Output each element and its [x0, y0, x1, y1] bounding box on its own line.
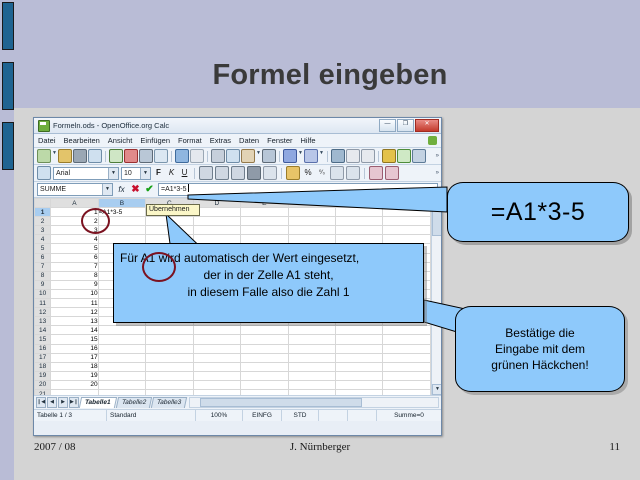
window-controls: — ❐ ✕	[379, 119, 439, 132]
previous-sheet-button[interactable]: ◀	[47, 397, 57, 408]
cell-h21[interactable]	[383, 389, 431, 395]
formula-bar: SUMME ▼ fx ✖ ✔ =A1*3-5	[34, 182, 441, 198]
cell-a19[interactable]: 19	[51, 371, 98, 380]
function-wizard-icon[interactable]: fx	[116, 185, 127, 194]
cell-c17[interactable]	[146, 353, 193, 362]
cell-e1[interactable]	[241, 208, 288, 217]
callout-formula-text: =A1*3-5	[491, 198, 586, 227]
cell-f2[interactable]	[288, 217, 335, 226]
column-header-a[interactable]: A	[51, 199, 98, 208]
status-bar: Tabelle 1 / 3 Standard 100% EINFG STD Su…	[34, 409, 441, 421]
cell-c18[interactable]	[146, 362, 193, 371]
row-header-19[interactable]: 19	[35, 371, 51, 380]
table-row: 1616	[35, 344, 431, 353]
menu-item-format[interactable]: Format	[178, 136, 202, 145]
footer-center: J. Nürnberger	[0, 438, 640, 456]
table-row: 1717	[35, 353, 431, 362]
accept-tooltip-label: Übernehmen	[149, 206, 189, 213]
row-header-12[interactable]: 12	[35, 308, 51, 317]
cell-b21[interactable]	[98, 389, 145, 395]
paste-icon[interactable]	[241, 149, 255, 163]
row-header-1[interactable]: 1	[35, 208, 51, 217]
cell-d14[interactable]	[193, 326, 240, 335]
cell-h15[interactable]	[383, 335, 431, 344]
toolbar-separator-3	[207, 151, 208, 162]
cell-g14[interactable]	[335, 326, 382, 335]
undo-dropdown-icon[interactable]: ▼	[298, 150, 303, 162]
vertical-scroll-thumb[interactable]	[432, 208, 441, 236]
cell-h16[interactable]	[383, 344, 431, 353]
cell-a15[interactable]: 15	[51, 335, 98, 344]
text-caret	[188, 184, 189, 192]
cell-h3[interactable]	[383, 226, 431, 235]
status-modified	[319, 410, 348, 421]
spellcheck-icon[interactable]	[175, 149, 189, 163]
italic-button[interactable]: K	[166, 167, 177, 179]
cell-f3[interactable]	[288, 226, 335, 235]
cell-b19[interactable]	[98, 371, 145, 380]
cell-a17[interactable]: 17	[51, 353, 98, 362]
font-name-value: Arial	[56, 170, 70, 177]
row-header-20[interactable]: 20	[35, 380, 51, 389]
cell-b17[interactable]	[98, 353, 145, 362]
clone-formatting-icon[interactable]	[262, 149, 276, 163]
formatting-toolbar: Arial ▼ 10 ▼ F K U % ⁰⁄₀ »	[34, 165, 441, 182]
spelling-check-icon[interactable]	[397, 149, 411, 163]
cell-b14[interactable]	[98, 326, 145, 335]
cell-c14[interactable]	[146, 326, 193, 335]
cut-icon[interactable]	[211, 149, 225, 163]
cell-h18[interactable]	[383, 362, 431, 371]
percent-format-icon[interactable]: %	[302, 167, 314, 179]
copy-icon[interactable]	[226, 149, 240, 163]
row-header-10[interactable]: 10	[35, 289, 51, 298]
row-header-16[interactable]: 16	[35, 344, 51, 353]
column-header-b[interactable]: B	[98, 199, 145, 208]
table-row: 2020	[35, 380, 431, 389]
bold-button[interactable]: F	[153, 167, 164, 179]
table-row: 1919	[35, 371, 431, 380]
cell-e14[interactable]	[241, 326, 288, 335]
cell-f21[interactable]	[288, 389, 335, 395]
callout-formula: =A1*3-5	[447, 182, 629, 242]
cell-d16[interactable]	[193, 344, 240, 353]
align-justified-icon[interactable]	[247, 166, 261, 180]
next-sheet-button[interactable]: ▶	[58, 397, 68, 408]
page-title: Formel eingeben	[60, 54, 600, 96]
cell-g18[interactable]	[335, 362, 382, 371]
cell-e3[interactable]	[241, 226, 288, 235]
cell-d15[interactable]	[193, 335, 240, 344]
row-header-9[interactable]: 9	[35, 280, 51, 289]
menu-item-bearbeiten[interactable]: Bearbeiten	[64, 136, 100, 145]
formula-input-value: =A1*3-5	[161, 186, 187, 193]
cell-c3[interactable]	[146, 226, 193, 235]
cell-a14[interactable]: 14	[51, 326, 98, 335]
menu-item-einfuegen[interactable]: Einfügen	[140, 136, 170, 145]
status-sheet: Tabelle 1 / 3	[34, 410, 107, 421]
menu-item-extras[interactable]: Extras	[210, 136, 231, 145]
cell-b16[interactable]	[98, 344, 145, 353]
cell-a16[interactable]: 16	[51, 344, 98, 353]
menu-item-daten[interactable]: Daten	[239, 136, 259, 145]
cell-h20[interactable]	[383, 380, 431, 389]
font-name-dropdown-icon[interactable]: ▼	[108, 168, 118, 179]
last-sheet-button[interactable]: ▶❙	[69, 397, 79, 408]
cell-e18[interactable]	[241, 362, 288, 371]
row-header-7[interactable]: 7	[35, 262, 51, 271]
cell-a11[interactable]: 11	[51, 299, 98, 308]
callout-explanation-line3: in diesem Falle also die Zahl 1	[114, 284, 423, 301]
cell-c16[interactable]	[146, 344, 193, 353]
email-icon[interactable]	[88, 149, 102, 163]
minimize-button[interactable]: —	[379, 119, 396, 132]
menu-item-hilfe[interactable]: Hilfe	[301, 136, 316, 145]
cell-d1[interactable]	[193, 208, 240, 217]
cell-d3[interactable]	[193, 226, 240, 235]
cell-d19[interactable]	[193, 371, 240, 380]
cell-a4[interactable]: 4	[51, 235, 98, 244]
cell-a21[interactable]	[51, 389, 98, 395]
decrease-indent-icon[interactable]	[369, 166, 383, 180]
cell-a18[interactable]: 18	[51, 362, 98, 371]
calc-app-icon	[38, 120, 50, 132]
footer-right: 11	[560, 438, 620, 456]
cell-d20[interactable]	[193, 380, 240, 389]
cell-e21[interactable]	[241, 389, 288, 395]
decor-bar-2	[2, 62, 14, 110]
cell-f19[interactable]	[288, 371, 335, 380]
cell-g20[interactable]	[335, 380, 382, 389]
window-title: Formeln.ods - OpenOffice.org Calc	[53, 121, 379, 130]
add-decimal-icon[interactable]	[330, 166, 344, 180]
cell-f16[interactable]	[288, 344, 335, 353]
row-header-21[interactable]: 21	[35, 389, 51, 395]
cell-e17[interactable]	[241, 353, 288, 362]
cell-d2[interactable]	[193, 217, 240, 226]
align-right-icon[interactable]	[231, 166, 245, 180]
name-box[interactable]: SUMME ▼	[37, 183, 113, 196]
status-signature	[348, 410, 377, 421]
save-icon[interactable]	[73, 149, 87, 163]
cell-g21[interactable]	[335, 389, 382, 395]
cell-g3[interactable]	[335, 226, 382, 235]
callout-confirm-line1: Bestätige die	[491, 325, 588, 341]
format-separator-1	[194, 168, 195, 179]
cell-e15[interactable]	[241, 335, 288, 344]
cell-c19[interactable]	[146, 371, 193, 380]
cell-g16[interactable]	[335, 344, 382, 353]
font-name-input[interactable]: Arial ▼	[53, 167, 119, 180]
print-icon[interactable]	[139, 149, 153, 163]
column-header-row: A B C D E F G H	[35, 199, 431, 208]
cell-a5[interactable]: 5	[51, 244, 98, 253]
cell-f17[interactable]	[288, 353, 335, 362]
align-center-icon[interactable]	[215, 166, 229, 180]
menu-item-ansicht[interactable]: Ansicht	[108, 136, 133, 145]
cell-c20[interactable]	[146, 380, 193, 389]
sheet-tab-tabelle1[interactable]: Tabelle1	[79, 397, 117, 408]
sort-ascending-icon[interactable]	[346, 149, 360, 163]
cell-g19[interactable]	[335, 371, 382, 380]
cell-d21[interactable]	[193, 389, 240, 395]
open-icon[interactable]	[58, 149, 72, 163]
cell-h17[interactable]	[383, 353, 431, 362]
autospellcheck-icon[interactable]	[190, 149, 204, 163]
standard-toolbar: ▼ ▼ ▼ ▼	[34, 148, 441, 165]
row-header-13[interactable]: 13	[35, 317, 51, 326]
row-header-17[interactable]: 17	[35, 353, 51, 362]
window-titlebar[interactable]: Formeln.ods - OpenOffice.org Calc — ❐ ✕	[34, 118, 441, 134]
status-insert-mode[interactable]: EINFG	[243, 410, 282, 421]
horizontal-scroll-thumb[interactable]	[200, 398, 362, 407]
decor-bar-3	[2, 122, 14, 170]
accept-icon[interactable]: ✔	[144, 184, 155, 195]
menu-bar: Datei Bearbeiten Ansicht Einfügen Format…	[34, 134, 441, 148]
callout-confirm-line2: Eingabe mit dem	[491, 341, 588, 357]
toolbar-separator-5	[327, 151, 328, 162]
document-modified-icon	[428, 136, 437, 145]
cell-f18[interactable]	[288, 362, 335, 371]
row-header-5[interactable]: 5	[35, 244, 51, 253]
sort-descending-icon[interactable]	[361, 149, 375, 163]
column-header-g[interactable]: G	[335, 199, 382, 208]
annotation-circle-a1-text	[142, 252, 176, 282]
slide: Formel eingeben Formeln.ods - OpenOffice…	[0, 0, 640, 480]
cell-c2[interactable]	[146, 217, 193, 226]
cancel-icon[interactable]: ✖	[130, 184, 141, 195]
column-header-d[interactable]: D	[193, 199, 240, 208]
format-separator-2	[281, 168, 282, 179]
cell-h1[interactable]	[383, 208, 431, 217]
first-sheet-button[interactable]: ❙◀	[36, 397, 46, 408]
new-dropdown-icon[interactable]: ▼	[52, 150, 57, 162]
font-size-input[interactable]: 10 ▼	[121, 167, 151, 180]
cell-c15[interactable]	[146, 335, 193, 344]
export-pdf-icon[interactable]	[124, 149, 138, 163]
close-button[interactable]: ✕	[415, 119, 439, 132]
callout-confirm-line3: grünen Häckchen!	[491, 357, 588, 373]
row-header-3[interactable]: 3	[35, 226, 51, 235]
cell-h2[interactable]	[383, 217, 431, 226]
column-header-f[interactable]: F	[288, 199, 335, 208]
paste-dropdown-icon[interactable]: ▼	[256, 150, 261, 162]
sheet-tab-bar: ❙◀ ◀ ▶ ▶❙ Tabelle1 Tabelle2 Tabelle3	[34, 395, 441, 409]
cell-g15[interactable]	[335, 335, 382, 344]
redo-dropdown-icon[interactable]: ▼	[319, 150, 324, 162]
toolbar-separator-4	[279, 151, 280, 162]
cell-e19[interactable]	[241, 371, 288, 380]
cell-b15[interactable]	[98, 335, 145, 344]
increase-indent-icon[interactable]	[385, 166, 399, 180]
cell-d17[interactable]	[193, 353, 240, 362]
toolbar-separator-6	[378, 151, 379, 162]
row-header-14[interactable]: 14	[35, 326, 51, 335]
toolbar-separator-2	[171, 151, 172, 162]
cell-c21[interactable]	[146, 389, 193, 395]
scroll-down-button[interactable]: ▼	[432, 384, 441, 395]
row-header-11[interactable]: 11	[35, 299, 51, 308]
select-all-corner[interactable]	[35, 199, 51, 208]
cell-b20[interactable]	[98, 380, 145, 389]
row-header-2[interactable]: 2	[35, 217, 51, 226]
styles-icon[interactable]	[37, 166, 51, 180]
name-box-value: SUMME	[40, 186, 66, 193]
hyperlink-icon[interactable]	[331, 149, 345, 163]
row-header-15[interactable]: 15	[35, 335, 51, 344]
find-replace-icon[interactable]	[412, 149, 426, 163]
status-page-style: Standard	[107, 410, 196, 421]
cell-h14[interactable]	[383, 326, 431, 335]
row-header-6[interactable]: 6	[35, 253, 51, 262]
align-left-icon[interactable]	[199, 166, 213, 180]
cell-g17[interactable]	[335, 353, 382, 362]
table-row: 1818	[35, 362, 431, 371]
cell-e2[interactable]	[241, 217, 288, 226]
cell-f1[interactable]	[288, 208, 335, 217]
font-size-value: 10	[124, 170, 132, 177]
status-sum: Summe=0	[377, 410, 441, 421]
formula-input[interactable]: =A1*3-5	[158, 183, 438, 196]
accept-tooltip: Übernehmen	[146, 204, 200, 216]
format-separator-3	[364, 168, 365, 179]
merge-cells-icon[interactable]	[263, 166, 277, 180]
table-row: 1515	[35, 335, 431, 344]
status-zoom[interactable]: 100%	[196, 410, 243, 421]
status-selection-mode[interactable]: STD	[282, 410, 319, 421]
chart-icon[interactable]	[382, 149, 396, 163]
redo-icon[interactable]	[304, 149, 318, 163]
sheet-tab-tabelle3[interactable]: Tabelle3	[151, 397, 188, 408]
menu-item-fenster[interactable]: Fenster	[267, 136, 292, 145]
standard-format-icon[interactable]: ⁰⁄₀	[316, 167, 328, 179]
cell-a13[interactable]: 13	[51, 317, 98, 326]
cell-g2[interactable]	[335, 217, 382, 226]
toolbar-overflow-chevron-icon[interactable]: »	[436, 153, 439, 159]
cell-f14[interactable]	[288, 326, 335, 335]
cell-a9[interactable]: 9	[51, 280, 98, 289]
cell-h19[interactable]	[383, 371, 431, 380]
format-overflow-chevron-icon[interactable]: »	[436, 170, 439, 176]
cell-a8[interactable]: 8	[51, 271, 98, 280]
underline-button[interactable]: U	[179, 167, 190, 179]
cell-f15[interactable]	[288, 335, 335, 344]
cell-b18[interactable]	[98, 362, 145, 371]
decor-bar-1	[2, 2, 14, 50]
sheet-tab-tabelle2[interactable]: Tabelle2	[115, 397, 152, 408]
name-box-dropdown-icon[interactable]: ▼	[102, 184, 112, 195]
new-document-icon[interactable]	[37, 149, 51, 163]
cell-g1[interactable]	[335, 208, 382, 217]
edit-file-icon[interactable]	[109, 149, 123, 163]
table-row: 21	[35, 389, 431, 395]
font-size-dropdown-icon[interactable]: ▼	[140, 168, 150, 179]
column-header-e[interactable]: E	[241, 199, 288, 208]
row-header-18[interactable]: 18	[35, 362, 51, 371]
undo-icon[interactable]	[283, 149, 297, 163]
maximize-button[interactable]: ❐	[397, 119, 414, 132]
toolbar-separator-1	[105, 151, 106, 162]
row-header-4[interactable]: 4	[35, 235, 51, 244]
currency-format-icon[interactable]	[286, 166, 300, 180]
cell-e16[interactable]	[241, 344, 288, 353]
delete-decimal-icon[interactable]	[346, 166, 360, 180]
cell-a10[interactable]: 10	[51, 289, 98, 298]
print-preview-icon[interactable]	[154, 149, 168, 163]
cell-d18[interactable]	[193, 362, 240, 371]
cell-e20[interactable]	[241, 380, 288, 389]
callout-confirm: Bestätige die Eingabe mit dem grünen Häc…	[455, 306, 625, 392]
cell-a20[interactable]: 20	[51, 380, 98, 389]
cell-a7[interactable]: 7	[51, 262, 98, 271]
vertical-scrollbar[interactable]: ▲ ▼	[431, 198, 441, 395]
cell-a12[interactable]: 12	[51, 308, 98, 317]
row-header-8[interactable]: 8	[35, 271, 51, 280]
table-row: 1414	[35, 326, 431, 335]
menu-item-datei[interactable]: Datei	[38, 136, 56, 145]
annotation-circle-a1-cell	[81, 208, 110, 234]
horizontal-scrollbar[interactable]	[189, 397, 439, 408]
cell-f20[interactable]	[288, 380, 335, 389]
column-header-h[interactable]: H	[383, 199, 431, 208]
cell-a6[interactable]: 6	[51, 253, 98, 262]
